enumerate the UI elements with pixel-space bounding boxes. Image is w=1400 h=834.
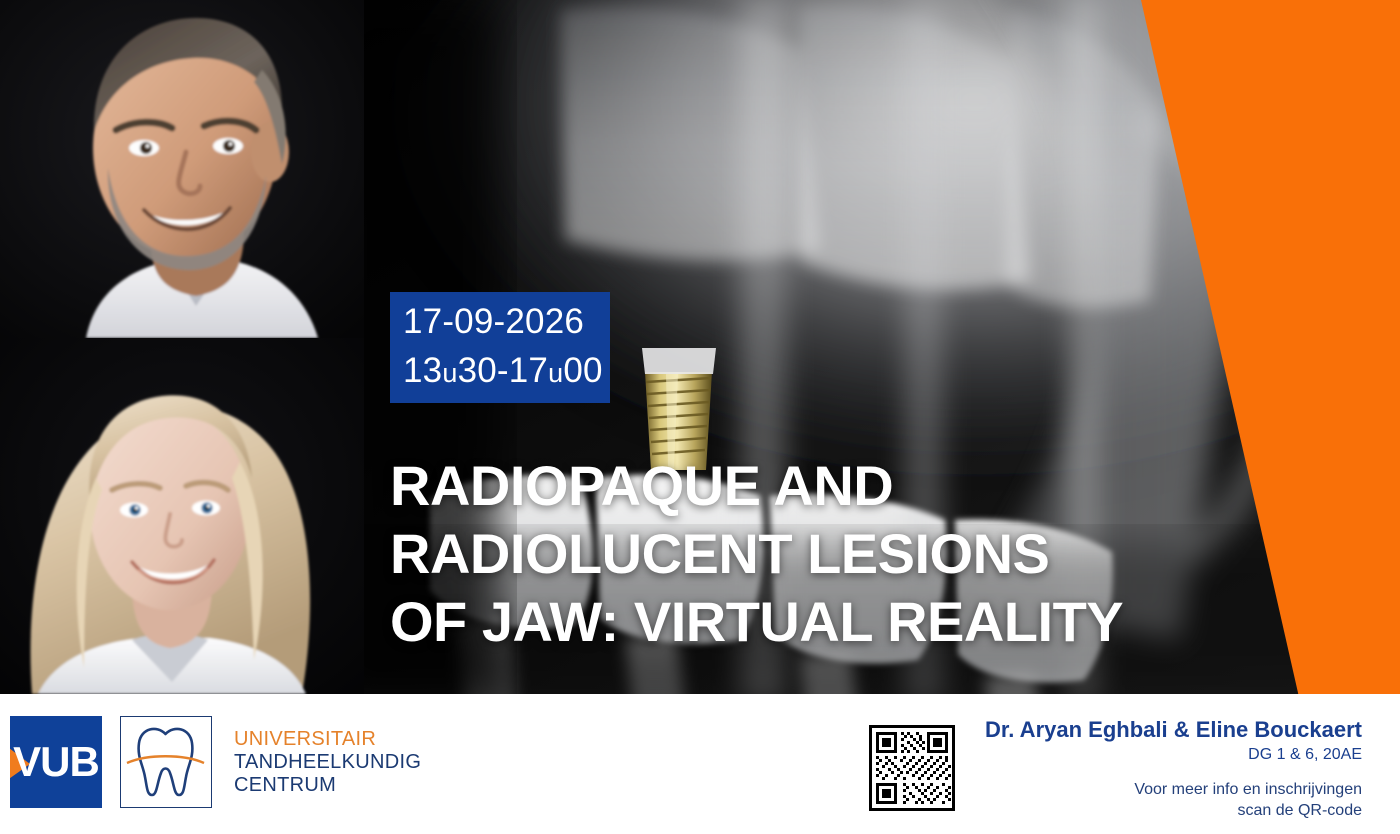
utc-wordmark: UNIVERSITAIR TANDHEELKUNDIG CENTRUM: [234, 728, 421, 797]
event-time: 13u30-17u00: [403, 346, 610, 398]
title-line-3: OF JAW: VIRTUAL REALITY: [390, 588, 1290, 656]
utc-line-2: TANDHEELKUNDIG: [234, 751, 421, 774]
presenter-names: Dr. Aryan Eghbali & Eline Bouckaert: [985, 716, 1362, 743]
vub-logo: VUB: [10, 716, 102, 808]
vub-logo-text: VUB: [13, 741, 99, 783]
presenter-photo-column: [0, 0, 364, 694]
portrait-female-presenter: [0, 338, 364, 694]
portrait-male-presenter: [0, 0, 364, 338]
event-date: 17-09-2026: [403, 297, 610, 346]
poster-title: RADIOPAQUE AND RADIOLUCENT LESIONS OF JA…: [390, 452, 1290, 656]
presenter-course-code: DG 1 & 6, 20AE: [985, 744, 1362, 765]
registration-info-line-1: Voor meer info en inschrijvingen: [985, 779, 1362, 800]
tooth-icon: [120, 716, 212, 808]
utc-line-1: UNIVERSITAIR: [234, 728, 421, 751]
footer-branding-group: VUB UNIVERSITAIR TANDHEELKUNDIG CENTRUM: [10, 716, 421, 808]
utc-line-3: CENTRUM: [234, 774, 421, 797]
time-separator-1: u: [442, 358, 457, 388]
time-start-hour: 13: [403, 351, 442, 390]
event-poster: 17-09-2026 13u30-17u00 RADIOPAQUE AND RA…: [0, 0, 1400, 834]
title-line-1: RADIOPAQUE AND: [390, 452, 1290, 520]
title-line-2: RADIOLUCENT LESIONS: [390, 520, 1290, 588]
time-start-minute: 30-17: [458, 351, 549, 390]
registration-info-line-2: scan de QR-code: [985, 800, 1362, 821]
footer-registration-group: Dr. Aryan Eghbali & Eline Bouckaert DG 1…: [861, 714, 1362, 821]
presenter-details: Dr. Aryan Eghbali & Eline Bouckaert DG 1…: [985, 714, 1362, 821]
poster-footer: VUB UNIVERSITAIR TANDHEELKUNDIG CENTRUM: [0, 694, 1400, 834]
time-separator-2: u: [548, 358, 563, 388]
registration-info: Voor meer info en inschrijvingen scan de…: [985, 779, 1362, 821]
qr-code[interactable]: [861, 716, 963, 820]
event-date-badge: 17-09-2026 13u30-17u00: [390, 292, 610, 403]
time-end-minute: 00: [563, 351, 602, 390]
